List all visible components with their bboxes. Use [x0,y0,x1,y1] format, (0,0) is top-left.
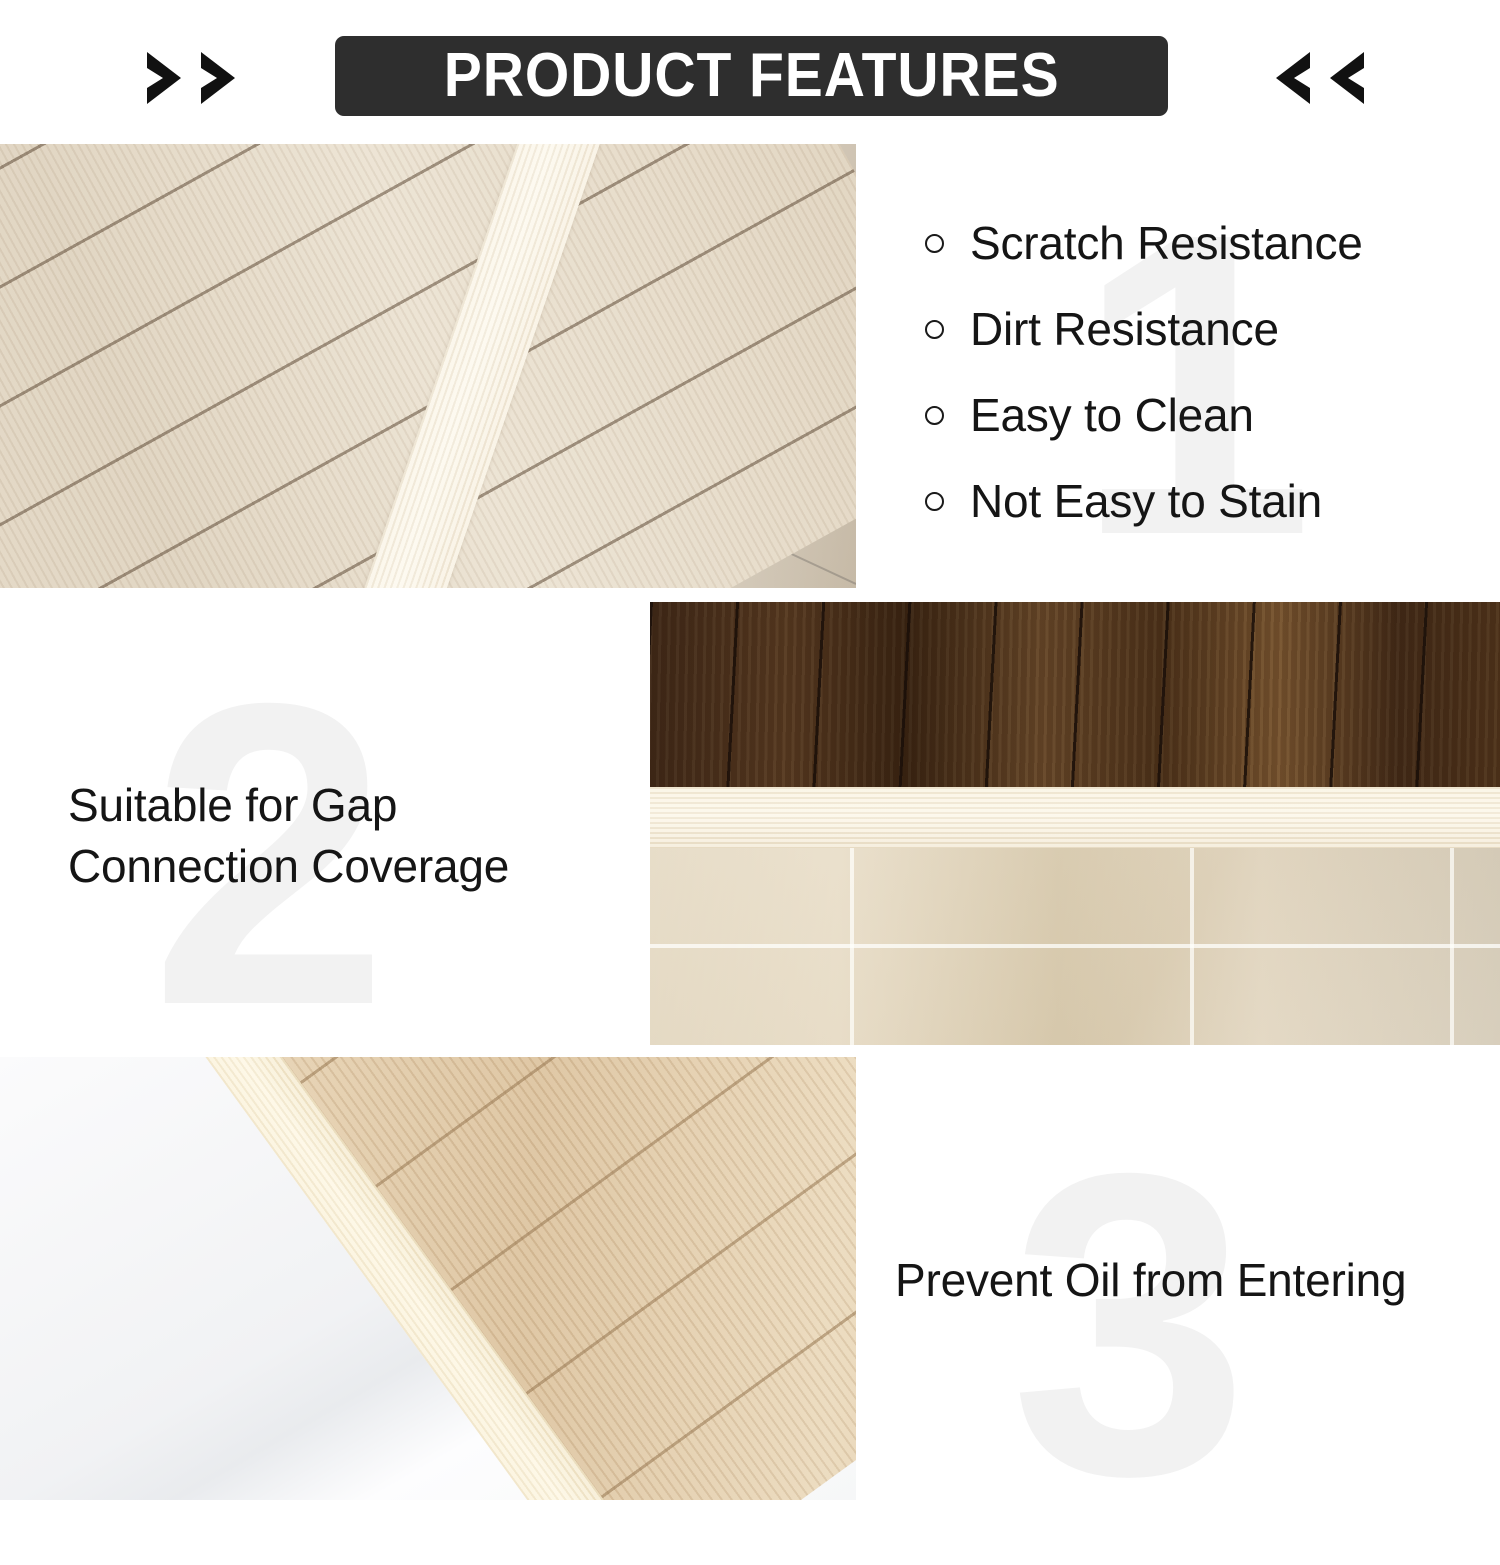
double-chevron-right-icon [143,50,239,106]
transition-strip [650,787,1500,849]
bullet-circle-icon [925,320,944,339]
tile-grout-line [1190,848,1194,1045]
tile-grout-line [1450,848,1454,1045]
tile-grout-line [650,944,1500,948]
feature-label: Scratch Resistance [970,216,1363,270]
tile-grout-line [850,848,854,1045]
section-3-caption: Prevent Oil from Entering [895,1250,1485,1311]
caption-line-1: Prevent Oil from Entering [895,1250,1485,1311]
photo-dark-wood-tile-transition [650,602,1500,1045]
bullet-circle-icon [925,234,944,253]
double-chevron-left-icon [1272,50,1368,106]
page-title-pill: PRODUCT FEATURES [335,36,1168,116]
caption-line-1: Suitable for Gap [68,775,628,836]
caption-line-2: Connection Coverage [68,836,628,897]
bullet-circle-icon [925,492,944,511]
photo-wall-oak-transition [0,1057,856,1500]
dark-rustic-planks [650,602,1500,790]
feature-label: Easy to Clean [970,388,1254,442]
bullet-circle-icon [925,406,944,425]
list-item: Scratch Resistance [925,200,1485,286]
photo-wood-marble-transition [0,144,856,588]
feature-list: Scratch Resistance Dirt Resistance Easy … [925,200,1485,544]
header-banner: PRODUCT FEATURES [0,0,1500,144]
section-2-caption: Suitable for Gap Connection Coverage [68,775,628,897]
feature-label: Not Easy to Stain [970,474,1322,528]
list-item: Not Easy to Stain [925,458,1485,544]
list-item: Dirt Resistance [925,286,1485,372]
section-watermark-3: 3 [1010,1110,1249,1540]
feature-label: Dirt Resistance [970,302,1279,356]
page-title: PRODUCT FEATURES [444,45,1060,107]
list-item: Easy to Clean [925,372,1485,458]
